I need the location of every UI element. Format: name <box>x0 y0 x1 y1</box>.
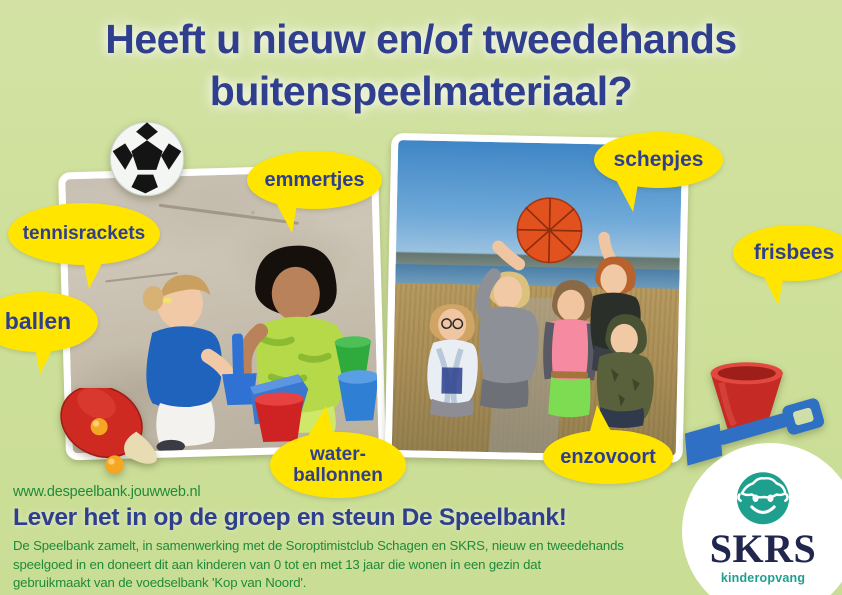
skrs-wordmark: SKRS <box>710 529 817 569</box>
ping-pong-paddle-icon <box>48 388 172 484</box>
bubble-label-line-2: ballonnen <box>293 465 383 486</box>
bubble-frisbees[interactable]: frisbees <box>733 225 842 281</box>
bubble-emmertjes[interactable]: emmertjes <box>247 151 382 209</box>
page-title: Heeft u nieuw en/of tweedehands buitensp… <box>0 14 842 117</box>
blue-bucket-toy <box>334 368 379 430</box>
website-url[interactable]: www.despeelbank.jouwweb.nl <box>13 484 200 500</box>
bubble-waterballonnen[interactable]: water- ballonnen <box>270 432 406 498</box>
bubble-tail <box>615 178 639 212</box>
body-copy-line-3: gebruikmaakt van de voedselbank 'Kop van… <box>13 574 673 593</box>
bubble-tennisrackets[interactable]: tennisrackets <box>8 203 160 265</box>
smiling-child-face-icon <box>732 466 794 528</box>
bubble-enzovoort[interactable]: enzovoort <box>543 430 673 484</box>
soccer-ball-icon <box>108 120 186 198</box>
child-in-grey-sweater <box>466 197 545 453</box>
call-to-action-tagline: Lever het in op de groep en steun De Spe… <box>13 504 567 532</box>
headline-line-2: buitenspeelmateriaal? <box>0 66 842 118</box>
bubble-schepjes[interactable]: schepjes <box>594 132 723 188</box>
poster-canvas: Heeft u nieuw en/of tweedehands buitensp… <box>0 0 842 595</box>
bubble-tail <box>589 405 613 435</box>
body-copy-line-1: De Speelbank zamelt, in samenwerking met… <box>13 537 673 556</box>
bubble-label: ballen <box>0 309 77 335</box>
bubble-label-line-1: water- <box>310 444 366 465</box>
bubble-tail <box>761 271 785 305</box>
bubble-tail <box>308 406 334 436</box>
body-copy: De Speelbank zamelt, in samenwerking met… <box>13 537 673 593</box>
bubble-label: frisbees <box>748 241 841 265</box>
bubble-label: enzovoort <box>554 446 662 468</box>
bubble-tail <box>34 342 56 374</box>
body-copy-line-2: speelgoed in en doneert dit aan kinderen… <box>13 556 673 575</box>
bubble-label: emmertjes <box>258 169 370 191</box>
headline-line-1: Heeft u nieuw en/of tweedehands <box>105 16 736 62</box>
skrs-subtitle: kinderopvang <box>721 571 805 585</box>
bubble-tail <box>82 255 106 289</box>
bubble-label: tennisrackets <box>17 223 152 244</box>
bubble-tail <box>274 199 298 233</box>
bubble-label: water- ballonnen <box>287 444 389 487</box>
bubble-label: schepjes <box>608 148 710 172</box>
